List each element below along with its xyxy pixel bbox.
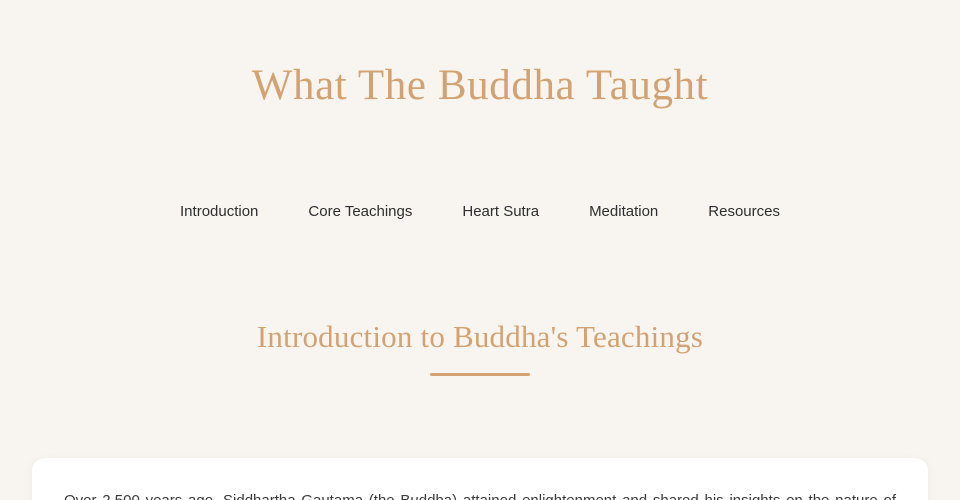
nav-item-meditation[interactable]: Meditation <box>589 202 658 222</box>
page-title: What The Buddha Taught <box>0 62 960 110</box>
nav-item-core-teachings[interactable]: Core Teachings <box>308 202 412 222</box>
section-divider <box>430 373 530 376</box>
nav-item-introduction[interactable]: Introduction <box>180 202 258 222</box>
card-paragraph: Over 2,500 years ago, Siddhartha Gautama… <box>64 488 896 500</box>
nav-item-heart-sutra[interactable]: Heart Sutra <box>462 202 539 222</box>
main-navigation: Introduction Core Teachings Heart Sutra … <box>0 202 960 222</box>
page-root: What The Buddha Taught Introduction Core… <box>0 0 960 500</box>
introduction-section: Introduction to Buddha's Teachings <box>0 319 960 376</box>
section-title: Introduction to Buddha's Teachings <box>0 319 960 355</box>
site-header: What The Buddha Taught <box>0 0 960 110</box>
content-card: Over 2,500 years ago, Siddhartha Gautama… <box>32 458 928 500</box>
nav-item-resources[interactable]: Resources <box>708 202 780 222</box>
